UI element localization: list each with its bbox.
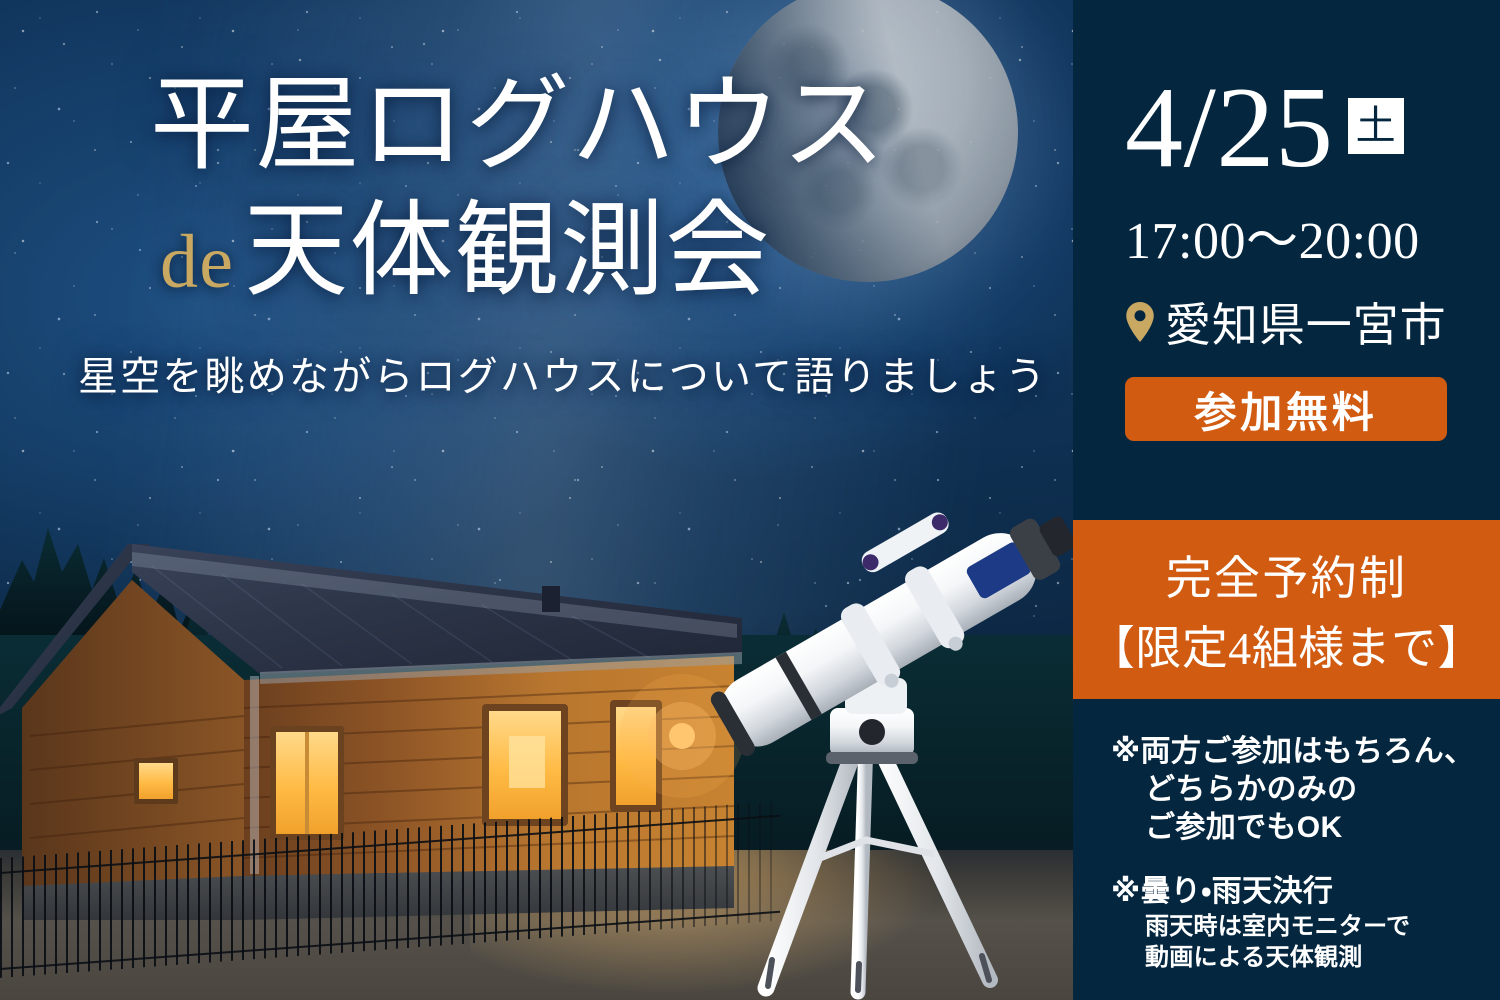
title-line-2: 天体観測会 — [244, 200, 770, 304]
event-location: 愛知県一宮市 — [1165, 289, 1447, 355]
info-sidebar: 4/25 土 17:00〜20:00 愛知県一宮市 参加無料 完全予約制 【限定… — [1073, 0, 1500, 1000]
reservation-banner: 完全予約制 【限定4組様まで】 — [1073, 520, 1500, 700]
note-subline: 動画による天体観測 — [1111, 942, 1476, 974]
event-poster: 平屋ログハウス de 天体観測会 星空を眺めながらログハウスについて語りましょう… — [0, 0, 1500, 1000]
event-time: 17:00〜20:00 — [1125, 198, 1470, 273]
notes-panel: ※両方ご参加はもちろん、 どちらかのみの ご参加でもOK ※曇り・雨天決行 雨天… — [1073, 699, 1500, 1000]
note-line: ※曇り・雨天決行 — [1111, 873, 1476, 911]
note-item: ※両方ご参加はもちろん、 どちらかのみの ご参加でもOK — [1111, 733, 1476, 846]
event-location-row: 愛知県一宮市 — [1125, 289, 1470, 355]
reservation-line-2: 【限定4組様まで】 — [1089, 612, 1484, 678]
title-line-2-row: de 天体観測会 — [160, 200, 1073, 304]
location-pin-icon — [1125, 302, 1155, 342]
note-line: ※両方ご参加はもちろん、 — [1111, 733, 1476, 771]
day-of-week-badge: 土 — [1348, 98, 1404, 154]
title-de-word: de — [160, 224, 234, 300]
note-subline: 雨天時は室内モニターで — [1111, 911, 1476, 943]
date-row: 4/25 土 — [1125, 76, 1470, 180]
title-line-1: 平屋ログハウス — [150, 74, 1073, 178]
event-date: 4/25 — [1125, 76, 1334, 180]
poster-subtitle: 星空を眺めながらログハウスについて語りましょう — [78, 344, 1073, 402]
night-sky-visual: 平屋ログハウス de 天体観測会 星空を眺めながらログハウスについて語りましょう — [0, 0, 1073, 1000]
note-item: ※曇り・雨天決行 雨天時は室内モニターで 動画による天体観測 — [1111, 873, 1476, 974]
free-participation-badge: 参加無料 — [1125, 377, 1447, 441]
telescope-image — [690, 440, 1073, 1000]
event-details-panel: 4/25 土 17:00〜20:00 愛知県一宮市 参加無料 — [1073, 0, 1500, 520]
reservation-line-1: 完全予約制 — [1166, 542, 1408, 608]
note-line: ご参加でもOK — [1111, 809, 1476, 847]
poster-title-block: 平屋ログハウス de 天体観測会 星空を眺めながらログハウスについて語りましょう — [0, 0, 1073, 402]
note-line: どちらかのみの — [1111, 771, 1476, 809]
